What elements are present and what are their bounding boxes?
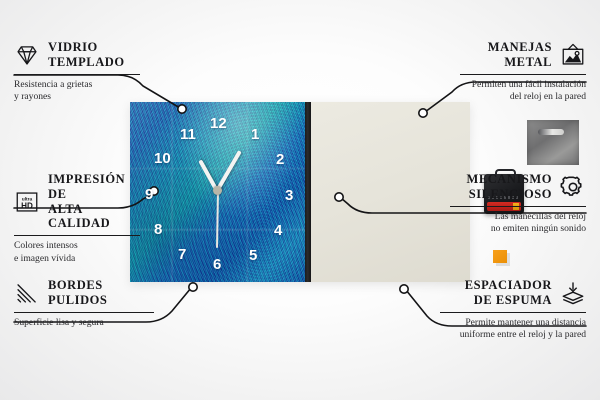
metal-hanger-plate (527, 120, 579, 165)
callout-rule (14, 74, 140, 75)
clock-numeral-2: 2 (276, 152, 284, 167)
callout-title: ESPACIADOR DE ESPUMA (465, 278, 552, 308)
callout-espaciador-de-espuma: ESPACIADOR DE ESPUMA Permite mantener un… (440, 278, 586, 342)
clock-face: 12 1 2 3 4 5 6 7 8 9 10 11 (130, 102, 305, 282)
callout-subtitle: Permite mantener una distancia uniforme … (440, 317, 586, 342)
callout-rule (14, 235, 140, 236)
callout-title: MANEJAS METAL (488, 40, 552, 70)
clock-numeral-3: 3 (285, 188, 293, 203)
infographic-canvas: 12 1 2 3 4 5 6 7 8 9 10 11 (0, 0, 600, 400)
callout-vidrio-templado: VIDRIO TEMPLADO Resistencia a grietas y … (14, 40, 140, 104)
callout-title: VIDRIO TEMPLADO (48, 40, 125, 70)
svg-text:HD: HD (21, 201, 33, 210)
callout-rule (14, 312, 154, 313)
clock-numeral-9: 9 (145, 187, 153, 202)
clock-numeral-4: 4 (274, 223, 282, 238)
arrow-on-layers-icon (560, 280, 586, 306)
callout-subtitle: Superficie lisa y segura (14, 317, 154, 329)
callout-title: MECANISMO SILENCIOSO (466, 172, 552, 202)
leader-dot-bordes (189, 283, 197, 291)
callout-bordes-pulidos: BORDES PULIDOS Superficie lisa y segura (14, 278, 154, 329)
foam-spacer (493, 250, 507, 263)
callout-subtitle: Colores intensos e imagen vívida (14, 240, 140, 265)
clock-numeral-5: 5 (249, 248, 257, 263)
callout-rule (450, 206, 586, 207)
diamond-icon (14, 42, 40, 68)
clock-numeral-8: 8 (154, 222, 162, 237)
callout-subtitle: Permiten una fácil instalación del reloj… (460, 79, 586, 104)
callout-subtitle: Resistencia a grietas y rayones (14, 79, 140, 104)
product-image: 12 1 2 3 4 5 6 7 8 9 10 11 (130, 102, 470, 282)
clock-back-panel (311, 102, 470, 282)
clock-numeral-10: 10 (154, 151, 171, 166)
callout-rule (440, 312, 586, 313)
clock-numeral-6: 6 (213, 257, 221, 272)
clock-numeral-7: 7 (178, 247, 186, 262)
polished-edge-icon (14, 280, 40, 306)
callout-mecanismo-silencioso: MECANISMO SILENCIOSO Las manecillas del … (450, 172, 586, 236)
clock-numeral-11: 11 (180, 127, 196, 142)
clock-pivot (213, 186, 222, 195)
callout-title: BORDES PULIDOS (48, 278, 107, 308)
hanging-picture-icon (560, 42, 586, 68)
callout-subtitle: Las manecillas del reloj no emiten ningú… (450, 211, 586, 236)
callout-rule (460, 74, 586, 75)
clock-second-hand (216, 190, 219, 248)
clock-numeral-1: 1 (251, 127, 259, 142)
callout-impresion-alta-calidad: ultra HD IMPRESIÓN DE ALTA CALIDAD Color… (14, 172, 140, 265)
gear-icon (560, 174, 586, 200)
leader-dot-espaciador (400, 285, 408, 293)
callout-title: IMPRESIÓN DE ALTA CALIDAD (48, 172, 140, 231)
callout-manejas-metal: MANEJAS METAL Permiten una fácil instala… (460, 40, 586, 104)
clock-numeral-12: 12 (210, 116, 227, 131)
hanger-slot (538, 129, 564, 135)
ultra-hd-icon: ultra HD (14, 189, 40, 215)
